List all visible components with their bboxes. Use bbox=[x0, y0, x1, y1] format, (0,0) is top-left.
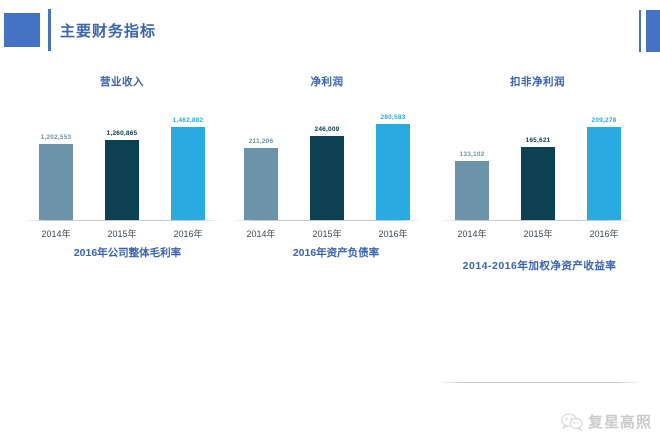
bar bbox=[171, 127, 205, 220]
page-title: 主要财务指标 bbox=[60, 20, 156, 41]
bar-value-label: 133,102 bbox=[460, 151, 485, 158]
x-axis-label: 2016年 bbox=[378, 227, 407, 240]
slide-canvas: 主要财务指标 营业收入 1,202,5531,260,8651,462,882 … bbox=[0, 0, 660, 440]
chart-adjusted-netprofit-xlabels: 2014年2015年2016年 bbox=[440, 221, 635, 235]
bar bbox=[244, 148, 278, 220]
slide-header: 主要财务指标 bbox=[0, 0, 660, 60]
bar-value-label: 165,621 bbox=[526, 137, 551, 144]
bar-value-label: 211,206 bbox=[249, 138, 274, 145]
bar bbox=[521, 147, 555, 220]
bar-value-label: 280,583 bbox=[381, 114, 406, 121]
bar-value-label: 1,260,865 bbox=[107, 130, 138, 137]
bar bbox=[455, 161, 489, 220]
gauge-debt-ratio: 2016年资产负债率 bbox=[236, 245, 436, 260]
bar-value-label: 1,202,553 bbox=[41, 134, 72, 141]
chart-netprofit-xlabels: 2014年2015年2016年 bbox=[232, 221, 422, 235]
bar-column: 1,462,882 bbox=[171, 127, 205, 220]
wechat-icon bbox=[561, 413, 583, 431]
chart-adjusted-netprofit: 扣非净利润 133,102165,621209,278 2014年2015年20… bbox=[440, 74, 635, 235]
x-axis-label: 2015年 bbox=[107, 227, 136, 240]
chart-netprofit: 净利润 211,206246,009280,583 2014年2015年2016… bbox=[232, 74, 422, 235]
bar bbox=[376, 124, 410, 220]
bar-column: 165,621 bbox=[521, 147, 555, 220]
bar bbox=[39, 144, 73, 220]
chart-revenue-title: 营业收入 bbox=[22, 74, 222, 89]
x-axis-label: 2014年 bbox=[41, 227, 70, 240]
bar-column: 246,009 bbox=[310, 136, 344, 220]
chart-adjusted-netprofit-plot: 133,102165,621209,278 bbox=[440, 105, 635, 221]
x-axis-label: 2015年 bbox=[523, 227, 552, 240]
chart-revenue: 营业收入 1,202,5531,260,8651,462,882 2014年20… bbox=[22, 74, 222, 235]
x-axis-label: 2016年 bbox=[173, 227, 202, 240]
bar-column: 1,260,865 bbox=[105, 140, 139, 220]
bar-column: 280,583 bbox=[376, 124, 410, 220]
header-right-accent-bar bbox=[646, 10, 660, 52]
bar-value-label: 246,009 bbox=[315, 126, 340, 133]
x-axis-label: 2015年 bbox=[312, 227, 341, 240]
header-accent-rule bbox=[48, 9, 51, 51]
chart-netprofit-plot: 211,206246,009280,583 bbox=[232, 105, 422, 221]
bar bbox=[105, 140, 139, 220]
bar-column: 133,102 bbox=[455, 161, 489, 220]
chart-adjusted-netprofit-title: 扣非净利润 bbox=[440, 74, 635, 89]
bar bbox=[310, 136, 344, 220]
x-axis-label: 2014年 bbox=[246, 227, 275, 240]
chart-roe-xlabels bbox=[437, 383, 642, 397]
bar-column: 211,206 bbox=[244, 148, 278, 220]
header-accent-square bbox=[4, 13, 40, 47]
gauge-gross-margin: 2016年公司整体毛利率 bbox=[20, 245, 235, 260]
header-right-thin-rule bbox=[639, 10, 641, 52]
chart-revenue-plot: 1,202,5531,260,8651,462,882 bbox=[22, 105, 222, 221]
bar-value-label: 1,462,882 bbox=[173, 117, 204, 124]
gauge-debt-ratio-title: 2016年资产负债率 bbox=[236, 245, 436, 260]
chart-roe: 2014-2016年加权净资产收益率 bbox=[437, 258, 642, 397]
chart-netprofit-title: 净利润 bbox=[232, 74, 422, 89]
bar bbox=[587, 127, 621, 220]
chart-roe-title: 2014-2016年加权净资产收益率 bbox=[437, 258, 642, 273]
watermark-brand: 复星高照 bbox=[588, 411, 652, 432]
x-axis-label: 2014年 bbox=[457, 227, 486, 240]
x-axis-label: 2016年 bbox=[589, 227, 618, 240]
gauge-gross-margin-title: 2016年公司整体毛利率 bbox=[20, 245, 235, 260]
chart-roe-plot bbox=[437, 287, 642, 383]
bar-column: 1,202,553 bbox=[39, 144, 73, 220]
bar-value-label: 209,278 bbox=[592, 117, 617, 124]
chart-revenue-xlabels: 2014年2015年2016年 bbox=[22, 221, 222, 235]
watermark: 复星高照 bbox=[561, 411, 652, 432]
bar-column: 209,278 bbox=[587, 127, 621, 220]
